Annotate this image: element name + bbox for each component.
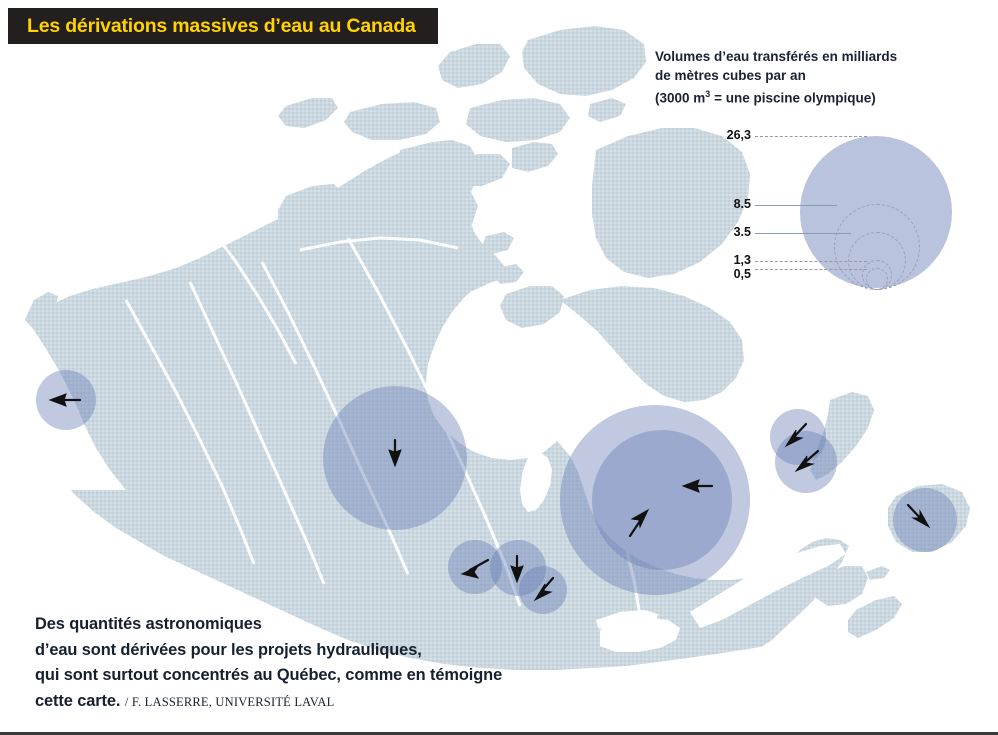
legend-title: Volumes d’eau transférés en milliards de… <box>655 48 955 108</box>
legend-label-0-5: 0,5 <box>701 267 751 281</box>
arrow-labrador-lower <box>796 451 818 471</box>
caption-line-1: Des quantités astronomiques <box>35 612 675 638</box>
arrow-quebec-outer <box>683 480 712 492</box>
caption-line-2: d’eau sont dérivées pour les projets hyd… <box>35 638 675 664</box>
caption-line-4: cette carte. / F. LASSERRE, UNIVERSITÉ L… <box>35 689 675 716</box>
arrow-saskatchewan-mid <box>511 556 523 582</box>
legend-label-8-5: 8.5 <box>701 197 751 211</box>
legend-title-line3-prefix: (3000 m <box>655 91 705 106</box>
caption-line-4-text: cette carte. <box>35 692 120 710</box>
caption-block: Des quantités astronomiques d’eau sont d… <box>35 612 675 715</box>
legend-leader-3-5 <box>755 233 851 234</box>
legend: Volumes d’eau transférés en milliards de… <box>655 48 985 298</box>
legend-title-line1: Volumes d’eau transférés en milliards <box>655 49 897 64</box>
arrow-manitoba <box>535 578 553 600</box>
caption-credit: / F. LASSERRE, UNIVERSITÉ LAVAL <box>125 695 335 709</box>
legend-title-line3-suffix: = une piscine olympique) <box>710 91 875 106</box>
arrow-central-prairie <box>389 440 401 466</box>
legend-circle-0-5 <box>866 268 888 290</box>
arrow-british-columbia <box>50 394 80 406</box>
arrow-saskatchewan-west <box>462 560 488 578</box>
arrow-newfoundland <box>908 505 929 527</box>
caption-line-3: qui sont surtout concentrés au Québec, c… <box>35 663 675 689</box>
legend-leader-1-3 <box>755 261 867 262</box>
legend-label-26-3: 26,3 <box>701 128 751 142</box>
legend-leader-0-5 <box>755 269 867 270</box>
legend-title-line2: de mètres cubes par an <box>655 68 806 83</box>
legend-label-3-5: 3.5 <box>701 225 751 239</box>
legend-leader-26-3 <box>755 136 867 137</box>
title-banner: Les dérivations massives d’eau au Canada <box>8 8 438 44</box>
arrow-labrador-upper <box>786 424 806 446</box>
arrow-quebec-inner <box>630 510 648 536</box>
page-title: Les dérivations massives d’eau au Canada <box>8 15 416 38</box>
legend-label-1-3: 1,3 <box>701 253 751 267</box>
legend-leader-8-5 <box>755 205 837 206</box>
infographic-page: Les dérivations massives d’eau au Canada… <box>0 0 998 735</box>
